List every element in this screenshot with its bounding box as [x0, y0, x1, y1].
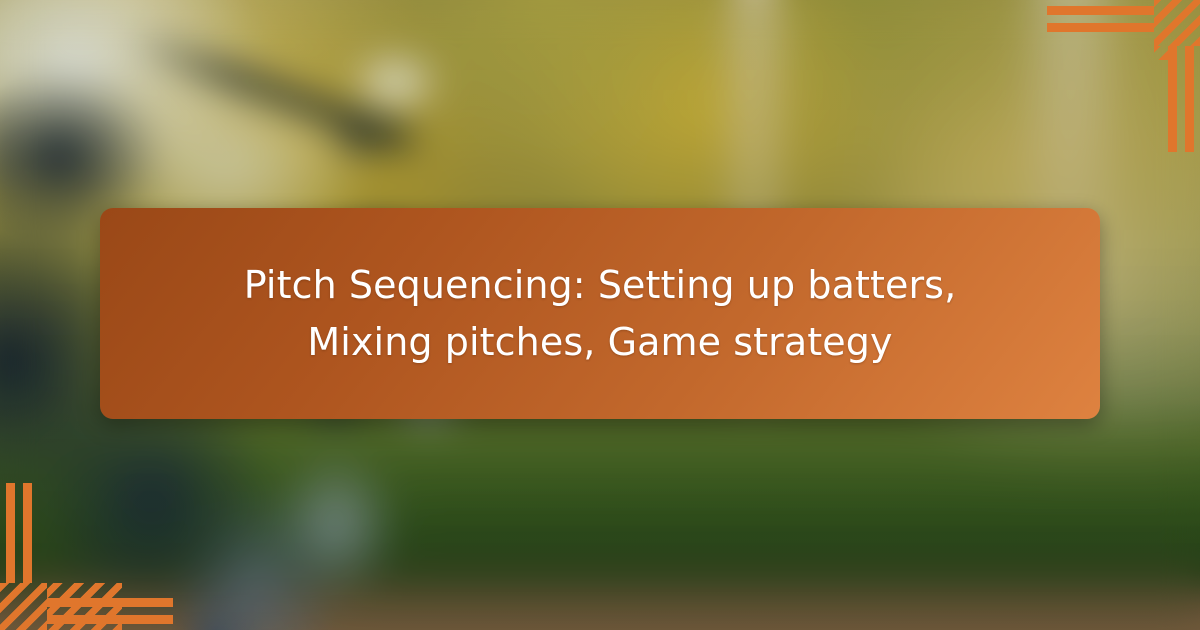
- title-card-graphic: Pitch Sequencing: Setting up batters, Mi…: [0, 0, 1200, 630]
- title-card-panel: Pitch Sequencing: Setting up batters, Mi…: [100, 208, 1100, 419]
- page-title: Pitch Sequencing: Setting up batters, Mi…: [210, 257, 990, 369]
